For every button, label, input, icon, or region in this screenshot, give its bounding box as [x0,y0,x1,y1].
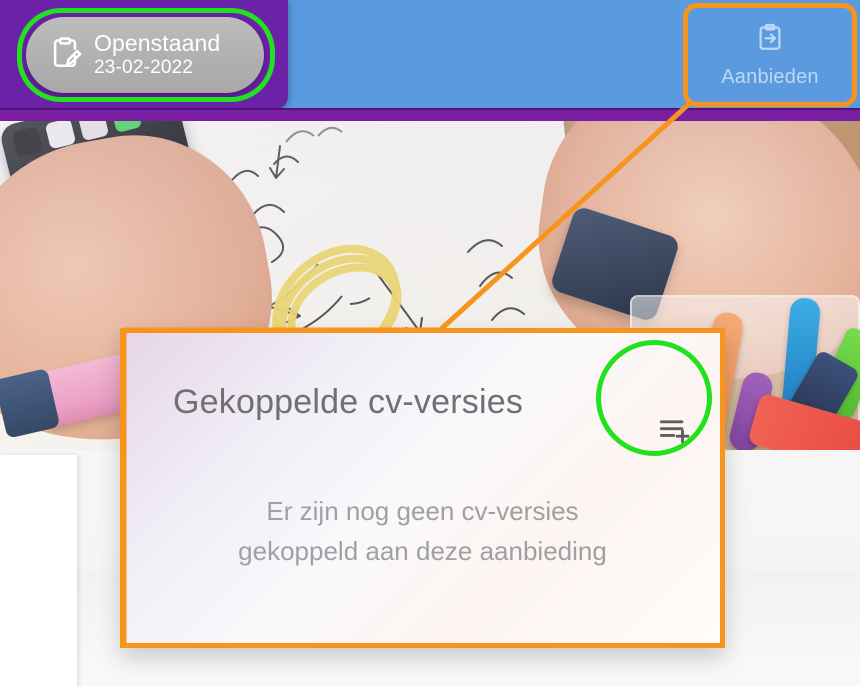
card-title: Gekoppelde cv-versies [173,383,523,422]
app-header: Openstaand 23-02-2022 Aanbieden [0,0,860,110]
cv-versions-card: Gekoppelde cv-versies Er zijn nog geen c… [120,328,725,648]
header-bottom-strip [0,110,860,121]
status-label: Openstaand [94,31,220,57]
aanbieden-label: Aanbieden [721,66,818,89]
status-chip-text: Openstaand 23-02-2022 [94,31,220,78]
left-sidebar-panel [0,455,77,686]
card-empty-state: Er zijn nog geen cv-versies gekoppeld aa… [125,491,720,572]
aanbieden-button[interactable]: Aanbieden [692,8,848,102]
card-header: Gekoppelde cv-versies [125,333,720,475]
add-cv-version-button[interactable] [637,393,713,469]
app-root: Openstaand 23-02-2022 Aanbieden Gekoppel… [0,0,860,686]
empty-state-line-1: Er zijn nog geen cv-versies [125,491,720,531]
empty-state-line-2: gekoppeld aan deze aanbieding [125,531,720,571]
clipboard-edit-icon [48,34,82,77]
status-date: 23-02-2022 [94,57,220,78]
clipboard-arrow-right-icon [755,22,785,59]
status-chip[interactable]: Openstaand 23-02-2022 [26,17,264,93]
playlist-add-icon [658,415,692,448]
